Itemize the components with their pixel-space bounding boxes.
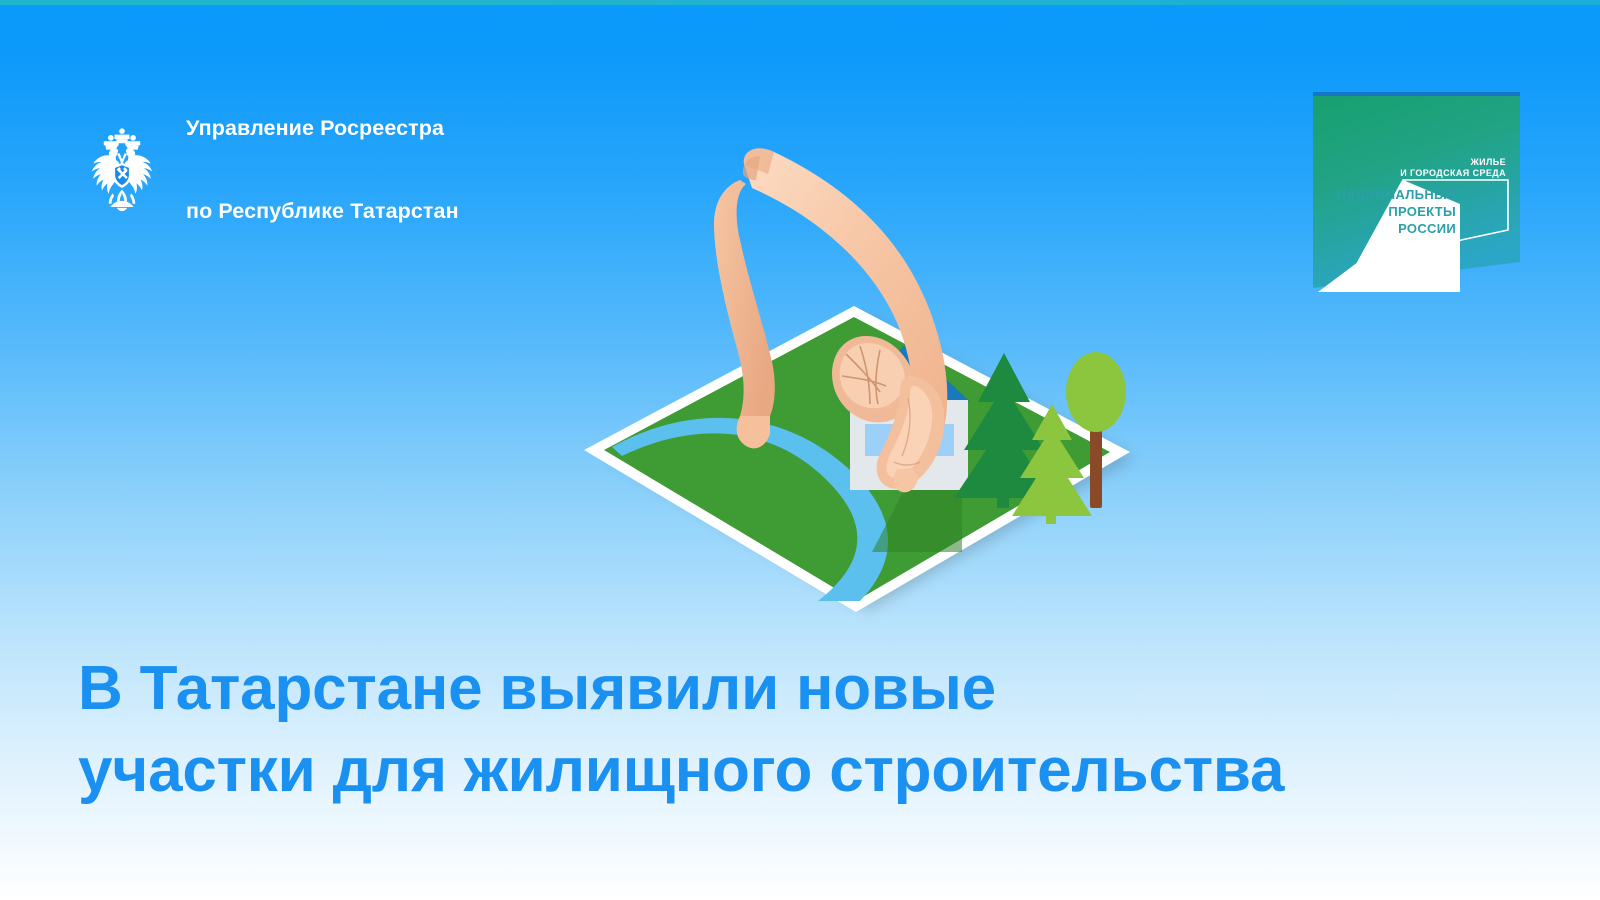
national-projects-badge: ЖИЛЬЕ И ГОРОДСКАЯ СРЕДА НАЦИОНАЛЬНЫЕ ПРО… [1310,92,1520,292]
rosreestr-logo-text: Управление Росреестра по Республике Тата… [186,60,459,280]
badge-top-edge [1313,92,1520,96]
page-title: В Татарстане выявили новые участки для ж… [78,648,1498,812]
badge-top-label-line2: И ГОРОДСКАЯ СРЕДА [1400,168,1506,178]
badge-main-label-line2: ПРОЕКТЫ [1388,204,1456,219]
hand-placing-house-illustration [560,140,1180,640]
rosreestr-logo-line2: по Республике Татарстан [186,198,459,226]
badge-main-label-line3: РОССИИ [1398,221,1456,236]
badge-main-label-line1: НАЦИОНАЛЬНЫЕ [1336,187,1456,202]
rosreestr-logo-line1: Управление Росреестра [186,115,459,143]
top-accent-strip [0,0,1600,5]
rosreestr-double-headed-eagle-icon [74,122,170,218]
page-title-line1: В Татарстане выявили новые [78,648,1498,730]
badge-top-label-line1: ЖИЛЬЕ [1470,157,1506,167]
poster-canvas: Управление Росреестра по Республике Тата… [0,0,1600,900]
page-title-line2: участки для жилищного строительства [78,730,1498,812]
rosreestr-logo: Управление Росреестра по Республике Тата… [74,60,459,280]
